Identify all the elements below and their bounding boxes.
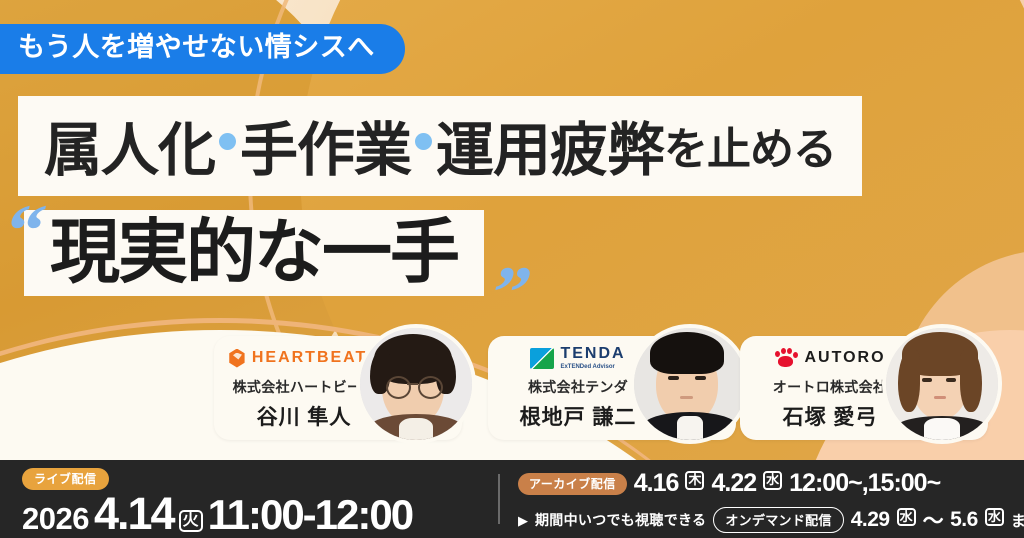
ondemand-row: ▶ 期間中いつでも視聴できる オンデマンド配信 4.29 水 〜 5.6 水 ま…	[518, 505, 1018, 535]
heartbeats-logo: HEARTBEATS	[228, 346, 380, 370]
archive-date-1: 4.16	[634, 469, 679, 498]
webinar-banner: もう人を増やせない情シスへ “ ” 属人化手作業運用疲弊を止める 現実的な一手 …	[0, 0, 1024, 538]
headline-emphasis: 現実的な一手	[50, 213, 458, 291]
logo-subtext: ExTENDed Advisor	[560, 364, 625, 370]
heartbeats-hexagon-icon	[228, 349, 246, 368]
ondemand-date-to: 5.6	[950, 508, 978, 532]
separator-dot-icon	[219, 133, 236, 150]
autoro-paw-icon	[774, 348, 798, 368]
ondemand-note: 期間中いつでも視聴できる	[535, 510, 706, 530]
ondemand-date-from: 4.29	[851, 508, 890, 532]
logo-text: TENDA	[560, 346, 625, 362]
live-day-of-week: 火	[179, 510, 203, 532]
live-date: 4.14	[94, 491, 174, 536]
ondemand-day-of-week-to: 水	[985, 508, 1004, 526]
headline-line-1: 属人化手作業運用疲弊を止める	[18, 96, 862, 196]
live-badge: ライブ配信	[22, 468, 109, 490]
speaker-card: HEARTBEATS 株式会社ハートビーツ 谷川 隼人	[214, 336, 462, 440]
live-year: 2026	[22, 501, 89, 537]
archive-badge: アーカイブ配信	[518, 473, 627, 495]
archive-day-of-week-1: 木	[685, 471, 704, 489]
archive-schedule: アーカイブ配信 4.16 木 4.22 水 12:00~,15:00~ ▶ 期間…	[518, 469, 1018, 535]
speaker-avatar	[356, 324, 476, 444]
archive-day-of-week-2: 水	[763, 471, 782, 489]
play-triangle-icon: ▶	[518, 514, 528, 527]
archive-datetime: アーカイブ配信 4.16 木 4.22 水 12:00~,15:00~	[518, 469, 1018, 498]
speaker-name: 根地戸 謙二	[502, 401, 654, 431]
logo-text: AUTORO	[804, 349, 885, 367]
headline-keyword-3: 運用疲弊	[436, 118, 664, 183]
speaker-card: AUTORO オートロ株式会社 石塚 愛弓	[740, 336, 988, 440]
target-audience-badge: もう人を増やせない情シスへ	[0, 24, 405, 74]
headline-line-2: 現実的な一手	[24, 210, 484, 296]
tenda-square-icon	[530, 348, 554, 369]
speaker-name: 石塚 愛弓	[754, 401, 906, 431]
live-datetime: 2026 4.14 火 11:00-12:00	[22, 491, 492, 537]
headline: “ ” 属人化手作業運用疲弊を止める 現実的な一手	[0, 96, 1024, 296]
ondemand-suffix: まで	[1011, 510, 1024, 531]
live-schedule: ライブ配信 2026 4.14 火 11:00-12:00	[22, 468, 492, 537]
live-time: 11:00-12:00	[208, 494, 413, 536]
quote-close-icon: ”	[484, 256, 537, 330]
speaker-list: HEARTBEATS 株式会社ハートビーツ 谷川 隼人	[0, 336, 1024, 460]
ondemand-tilde: 〜	[923, 505, 944, 535]
schedule-bar: ライブ配信 2026 4.14 火 11:00-12:00 アーカイブ配信 4.…	[0, 460, 1024, 538]
speaker-name: 谷川 隼人	[228, 401, 380, 431]
speaker-card: TENDA ExTENDed Advisor 株式会社テンダ 根地戸 謙二	[488, 336, 736, 440]
archive-times: 12:00~,15:00~	[789, 469, 940, 498]
ondemand-day-of-week-from: 水	[897, 508, 916, 526]
separator-dot-icon	[415, 133, 432, 150]
archive-date-2: 4.22	[711, 469, 756, 498]
headline-suffix: を止める	[664, 125, 836, 174]
schedule-divider	[498, 474, 500, 524]
headline-keyword-2: 手作業	[240, 118, 411, 183]
autoro-logo: AUTORO	[754, 346, 906, 370]
speaker-avatar	[882, 324, 1002, 444]
speaker-avatar	[630, 324, 750, 444]
headline-keyword-1: 属人化	[44, 118, 215, 183]
ondemand-badge: オンデマンド配信	[713, 507, 843, 533]
tenda-logo: TENDA ExTENDed Advisor	[502, 346, 654, 370]
